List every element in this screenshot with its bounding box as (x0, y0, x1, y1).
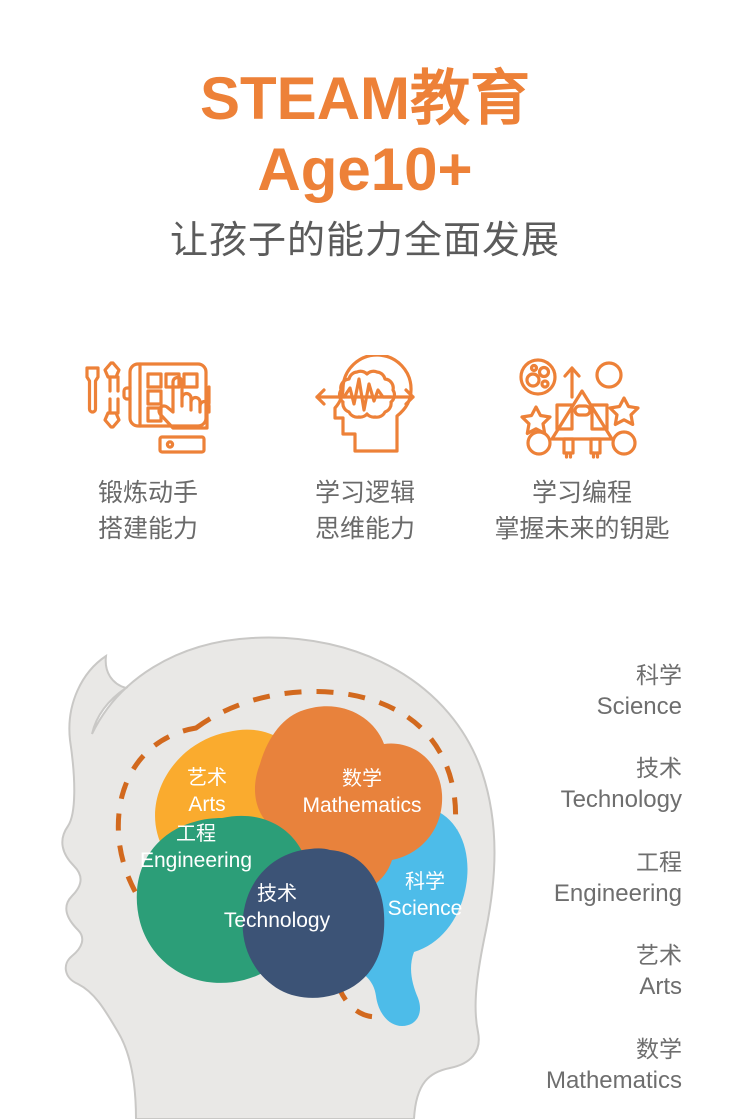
lobe-label-arts-en: Arts (188, 793, 225, 816)
feature-caption: 学习逻辑 思维能力 (315, 476, 415, 547)
lobe-label-engineering-en: Engineering (140, 849, 252, 872)
feature-caption-line-2: 搭建能力 (98, 512, 198, 548)
legend-item-arts: 艺术 Arts (462, 940, 682, 1003)
legend-label-en: Arts (462, 971, 682, 1003)
steam-legend: 科学 Science 技术 Technology 工程 Engineering … (462, 660, 682, 1097)
lobe-label-science-en: Science (388, 897, 463, 920)
head-brainwave-icon (300, 352, 430, 462)
legend-label-cn: 技术 (462, 753, 682, 784)
feature-caption: 学习编程 掌握未来的钥匙 (494, 476, 669, 547)
lobe-label-technology-cn: 技术 (257, 882, 297, 905)
feature-caption-line-2: 掌握未来的钥匙 (494, 512, 669, 548)
lobe-label-mathematics-en: Mathematics (302, 794, 421, 817)
poster-header: STEAM教育 Age10+ 让孩子的能力全面发展 (0, 0, 730, 265)
feature-caption-line-1: 学习逻辑 (315, 476, 415, 512)
legend-item-mathematics: 数学 Mathematics (462, 1034, 682, 1097)
robot-coding-icon (512, 352, 652, 462)
feature-row: 锻炼动手 搭建能力 学习逻辑 思维能力 (40, 352, 690, 547)
feature-caption: 锻炼动手 搭建能力 (98, 476, 198, 547)
lobe-label-engineering-cn: 工程 (176, 822, 216, 845)
legend-label-cn: 艺术 (462, 940, 682, 971)
legend-label-cn: 数学 (462, 1034, 682, 1065)
legend-label-cn: 工程 (462, 847, 682, 878)
lobe-label-science-cn: 科学 (405, 870, 445, 893)
legend-item-engineering: 工程 Engineering (462, 847, 682, 910)
tablet-tools-hand-icon (78, 352, 218, 462)
lobe-label-arts-cn: 艺术 (187, 766, 227, 789)
legend-label-en: Engineering (462, 878, 682, 910)
legend-label-en: Technology (462, 784, 682, 816)
page-subtitle: 让孩子的能力全面发展 (0, 218, 730, 266)
legend-label-cn: 科学 (462, 660, 682, 691)
feature-item-coding: 学习编程 掌握未来的钥匙 (474, 352, 690, 547)
page-title-line-2: Age10+ (0, 135, 730, 206)
feature-caption-line-2: 思维能力 (315, 512, 415, 548)
feature-item-logic: 学习逻辑 思维能力 (257, 352, 473, 547)
legend-label-en: Mathematics (462, 1065, 682, 1097)
page-title-line-1: STEAM教育 (0, 64, 730, 135)
lobe-label-mathematics-cn: 数学 (342, 767, 382, 790)
legend-item-science: 科学 Science (462, 660, 682, 723)
feature-caption-line-1: 学习编程 (494, 476, 669, 512)
legend-label-en: Science (462, 691, 682, 723)
lobe-label-technology-en: Technology (224, 909, 331, 932)
feature-caption-line-1: 锻炼动手 (98, 476, 198, 512)
legend-item-technology: 技术 Technology (462, 753, 682, 816)
feature-item-hands-on: 锻炼动手 搭建能力 (40, 352, 256, 547)
